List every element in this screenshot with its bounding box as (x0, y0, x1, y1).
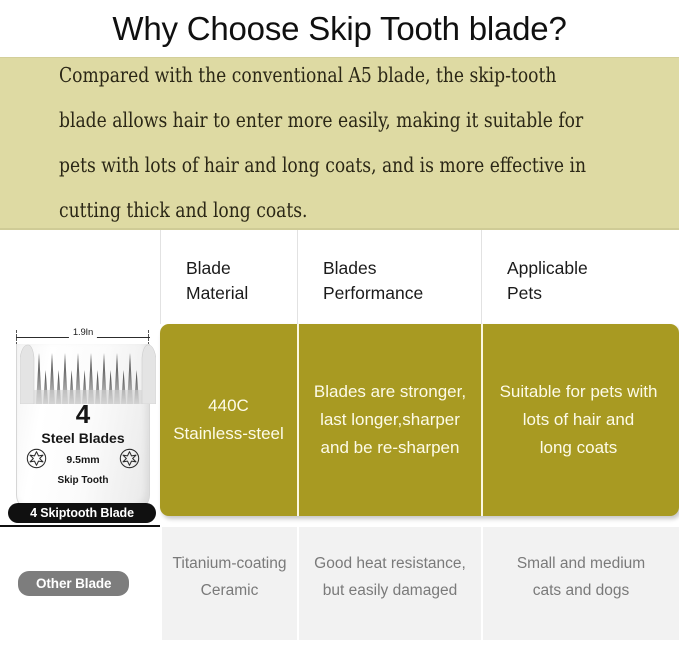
dimension-label: 1.9In (69, 327, 97, 338)
blade-steel-label: Steel Blades (17, 430, 149, 446)
table-row-skiptooth: 1.9In (0, 324, 679, 527)
status-badge-other-blade: Other Blade (18, 571, 129, 596)
other-blade-label-cell: Other Blade (0, 527, 160, 640)
page-title: Why Choose Skip Tooth blade? (112, 10, 566, 48)
cell-applicable-pets-other: Small and medium cats and dogs (481, 527, 679, 640)
screw-icon (26, 448, 47, 469)
column-header-applicable-pets: Applicable Pets (481, 230, 679, 324)
blade-dimension: 1.9In (16, 328, 150, 344)
cell-blade-material-other: Titanium-coating Ceramic (160, 527, 297, 640)
blade-teeth-icon (20, 344, 156, 404)
header-line-2: Material (186, 281, 297, 306)
cell-blades-performance-skiptooth: Blades are stronger, last longer,sharper… (297, 324, 481, 516)
description-band: Compared with the conventional A5 blade,… (0, 57, 679, 230)
status-badge-skiptooth: 4 Skiptooth Blade (8, 503, 156, 523)
header-corner-spacer (0, 230, 160, 324)
cell-blades-performance-other: Good heat resistance, but easily damaged (297, 527, 481, 640)
blade-body: 4 Steel Blades 9.5mm Skip Tooth (16, 344, 150, 511)
cell-applicable-pets-skiptooth: Suitable for pets with lots of hair and … (481, 324, 674, 516)
column-header-blade-material: Blade Material (160, 230, 297, 324)
table-header-row: Blade Material Blades Performance Applic… (0, 230, 679, 324)
skiptooth-feature-panel: 440C Stainless-steel Blades are stronger… (160, 324, 679, 516)
blade-type-label: Skip Tooth (17, 475, 149, 486)
header-line-2: Performance (323, 281, 481, 306)
comparison-table: Blade Material Blades Performance Applic… (0, 230, 679, 640)
description-text: Compared with the conventional A5 blade,… (59, 53, 591, 233)
table-row-other-blade: Other Blade Titanium-coating Ceramic Goo… (0, 527, 679, 640)
page-title-bar: Why Choose Skip Tooth blade? (0, 0, 679, 57)
cell-blade-material-skiptooth: 440C Stainless-steel (160, 324, 297, 516)
blade-size-number: 4 (17, 400, 149, 428)
screw-icon (119, 448, 140, 469)
header-line-1: Applicable (507, 256, 679, 281)
blade-illustration: 1.9In (8, 328, 156, 526)
column-header-blades-performance: Blades Performance (297, 230, 481, 324)
header-line-1: Blade (186, 256, 297, 281)
blade-product-cell: 1.9In (0, 324, 160, 527)
header-line-1: Blades (323, 256, 481, 281)
header-line-2: Pets (507, 281, 679, 306)
